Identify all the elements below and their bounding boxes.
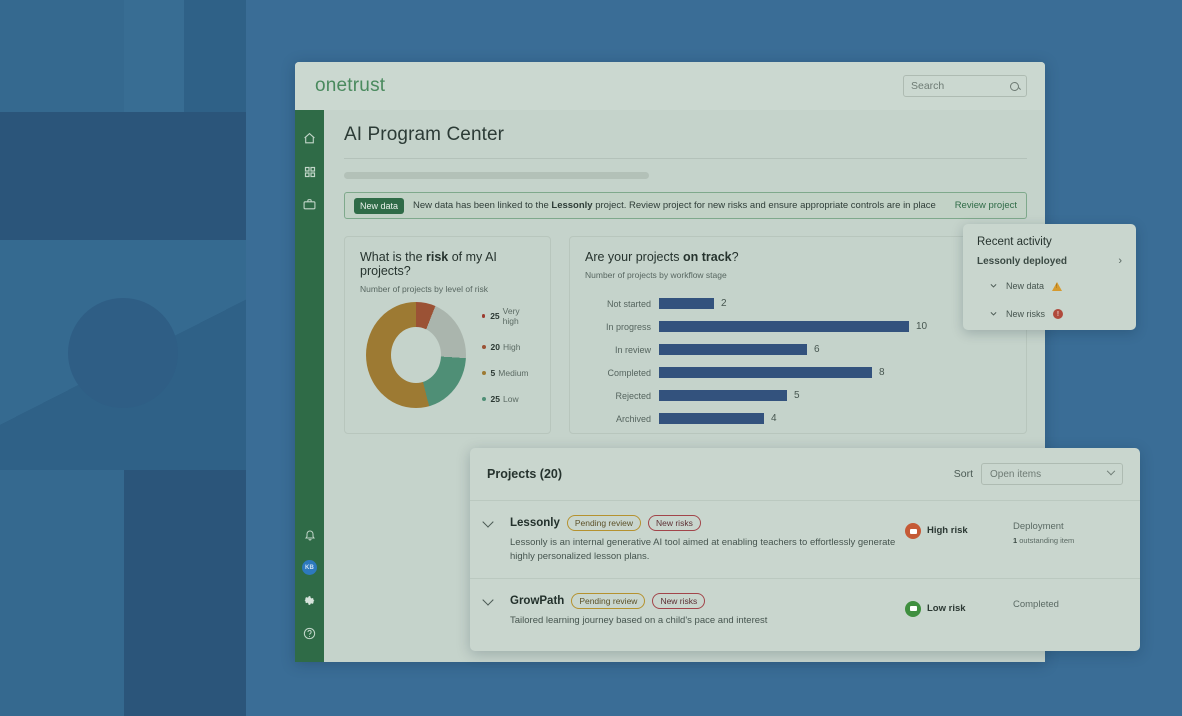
sort-value: Open items <box>990 469 1041 480</box>
project-badge: Pending review <box>567 515 641 531</box>
bar-row: Rejected5 <box>585 384 1011 407</box>
project-badge: New risks <box>648 515 701 531</box>
risk-chart-title: What is the risk of my AI projects? <box>360 250 535 278</box>
track-title-bold: on track <box>683 250 732 264</box>
sidebar-item-apps[interactable] <box>295 155 324 188</box>
search-icon <box>1010 82 1019 91</box>
track-chart-title: Are your projects on track? <box>585 250 1011 264</box>
chevron-down-icon[interactable] <box>989 305 998 323</box>
warning-triangle-icon <box>1052 282 1062 291</box>
search-placeholder: Search <box>911 80 944 92</box>
bar-value: 4 <box>771 413 777 424</box>
bar-row: Archived4 <box>585 407 1011 430</box>
onetrust-logo: onetrust <box>315 75 385 97</box>
project-body: GrowPathPending reviewNew risksTailored … <box>510 593 905 628</box>
legend-item: 25Very high <box>482 306 535 326</box>
project-risk: Low risk <box>905 593 1013 628</box>
risk-flag-icon <box>905 601 921 617</box>
project-row[interactable]: GrowPathPending reviewNew risksTailored … <box>470 578 1140 642</box>
legend-item: 25Low <box>482 394 535 404</box>
sidebar-item-notifications[interactable] <box>295 518 324 551</box>
project-risk: High risk <box>905 515 1013 564</box>
legend-label: High <box>503 342 520 352</box>
chevron-down-icon[interactable] <box>989 277 998 295</box>
risk-title-bold: risk <box>426 250 448 264</box>
track-chart-card: Are your projects on track? Number of pr… <box>569 236 1027 434</box>
bar-row: Not started2 <box>585 292 1011 315</box>
legend-item: 5Medium <box>482 368 535 378</box>
projects-header: Projects (20) Sort Open items <box>470 448 1140 500</box>
bar-label: Not started <box>585 299 659 309</box>
legend-value: 25 <box>491 394 500 404</box>
risk-label: High risk <box>927 523 968 536</box>
legend-dot <box>482 314 486 318</box>
sidebar-item-home[interactable] <box>295 122 324 155</box>
banner-text-project: Lessonly <box>551 200 592 211</box>
new-data-badge: New data <box>354 198 404 214</box>
donut-wrap: 25Very high20High5Medium25Low <box>360 302 535 408</box>
chart-cards: What is the risk of my AI projects? Numb… <box>344 236 1027 434</box>
t3: Are your projects <box>585 250 683 264</box>
recent-activity-title: Recent activity <box>977 236 1122 248</box>
project-name-line: GrowPathPending reviewNew risks <box>510 593 905 609</box>
sort-select[interactable]: Open items <box>981 463 1123 485</box>
risk-donut-chart <box>366 302 466 408</box>
bar-label: Completed <box>585 368 659 378</box>
project-badge: Pending review <box>571 593 645 609</box>
gear-icon <box>303 594 316 607</box>
home-icon <box>303 132 316 145</box>
project-stage-name: Deployment <box>1013 521 1123 532</box>
risk-flag-icon <box>905 523 921 539</box>
review-project-link[interactable]: Review project <box>955 200 1017 211</box>
sidebar-item-settings[interactable] <box>295 584 324 617</box>
workflow-bar-chart: Not started2In progress10In review6Compl… <box>585 292 1011 430</box>
recent-activity-subject-row[interactable]: Lessonly deployed › <box>977 255 1122 267</box>
risk-chart-card: What is the risk of my AI projects? Numb… <box>344 236 551 434</box>
bar-label: Rejected <box>585 391 659 401</box>
project-row[interactable]: LessonlyPending reviewNew risksLessonly … <box>470 500 1140 578</box>
recent-activity-item-new-data[interactable]: New data <box>977 277 1122 295</box>
bar-row: In progress10 <box>585 315 1011 338</box>
expand-toggle[interactable] <box>484 593 510 628</box>
bar-label: Archived <box>585 414 659 424</box>
alert-circle-icon: ! <box>1053 309 1063 319</box>
project-name: GrowPath <box>510 595 564 607</box>
search-input[interactable]: Search <box>903 75 1027 97</box>
bar <box>659 344 807 355</box>
legend-label: Very high <box>503 306 535 326</box>
bar-value: 8 <box>879 367 885 378</box>
bar-value: 2 <box>721 298 727 309</box>
bar <box>659 413 764 424</box>
project-stage: Completed <box>1013 593 1123 628</box>
project-stage-sub: 1 outstanding item <box>1013 536 1123 545</box>
legend-dot <box>482 371 486 375</box>
avatar: KB <box>302 560 317 575</box>
sidebar-item-user[interactable]: KB <box>295 551 324 584</box>
legend-dot <box>482 345 486 349</box>
bar <box>659 367 872 378</box>
risk-legend: 25Very high20High5Medium25Low <box>482 306 535 404</box>
legend-value: 20 <box>491 342 500 352</box>
bg-shape <box>124 470 246 716</box>
bar-value: 10 <box>916 321 927 332</box>
t1: What is the <box>360 250 426 264</box>
project-name-line: LessonlyPending reviewNew risks <box>510 515 905 531</box>
bg-shape <box>0 470 124 716</box>
projects-rows: LessonlyPending reviewNew risksLessonly … <box>470 500 1140 641</box>
bar <box>659 321 909 332</box>
grid-apps-icon <box>304 166 316 178</box>
banner-text-after: project. Review project for new risks an… <box>593 200 936 211</box>
app-topbar: onetrust Search <box>295 62 1045 110</box>
legend-dot <box>482 397 486 401</box>
project-description: Lessonly is an internal generative AI to… <box>510 536 905 564</box>
project-description: Tailored learning journey based on a chi… <box>510 614 905 628</box>
bell-icon <box>304 528 316 541</box>
recent-activity-item-new-risks[interactable]: New risks ! <box>977 305 1122 323</box>
project-stage: Deployment1 outstanding item <box>1013 515 1123 564</box>
risk-chart-subtitle: Number of projects by level of risk <box>360 284 535 294</box>
briefcase-icon <box>303 198 316 211</box>
project-name: Lessonly <box>510 517 560 529</box>
left-sidebar: KB <box>295 110 324 662</box>
bar-value: 6 <box>814 344 820 355</box>
legend-value: 5 <box>491 368 496 378</box>
projects-title: Projects (20) <box>487 467 562 481</box>
page-title: AI Program Center <box>344 124 1027 146</box>
banner-text-before: New data has been linked to the <box>413 200 551 211</box>
chevron-right-icon[interactable]: › <box>1118 255 1122 267</box>
legend-label: Medium <box>498 368 528 378</box>
sidebar-item-help[interactable] <box>295 617 324 650</box>
bg-shape <box>0 112 246 242</box>
recent-item-label: New data <box>1006 281 1044 291</box>
bg-circle <box>68 298 178 408</box>
project-badge: New risks <box>652 593 705 609</box>
chevron-down-icon <box>1107 467 1115 475</box>
chevron-down-icon <box>482 516 493 527</box>
new-data-banner: New data New data has been linked to the… <box>344 192 1027 219</box>
legend-label: Low <box>503 394 519 404</box>
bar-row: In review6 <box>585 338 1011 361</box>
skeleton-bar <box>344 172 649 179</box>
t4: ? <box>732 250 739 264</box>
legend-item: 20High <box>482 342 535 352</box>
help-circle-icon <box>303 627 316 640</box>
recent-activity-panel: Recent activity Lessonly deployed › New … <box>963 224 1136 330</box>
chevron-down-icon <box>482 594 493 605</box>
expand-toggle[interactable] <box>484 515 510 564</box>
projects-panel: Projects (20) Sort Open items LessonlyPe… <box>470 448 1140 651</box>
bar-value: 5 <box>794 390 800 401</box>
risk-label: Low risk <box>927 601 966 614</box>
sort-control: Sort Open items <box>954 463 1123 485</box>
legend-value: 25 <box>490 311 499 321</box>
project-stage-name: Completed <box>1013 599 1123 610</box>
track-chart-subtitle: Number of projects by workflow stage <box>585 270 1011 280</box>
banner-text: New data has been linked to the Lessonly… <box>413 200 946 211</box>
sort-label: Sort <box>954 468 973 480</box>
bar-label: In review <box>585 345 659 355</box>
bg-shape <box>246 0 300 716</box>
bar <box>659 390 787 401</box>
recent-activity-subject: Lessonly deployed <box>977 256 1067 267</box>
project-body: LessonlyPending reviewNew risksLessonly … <box>510 515 905 564</box>
bar <box>659 298 714 309</box>
bar-label: In progress <box>585 322 659 332</box>
sidebar-item-projects[interactable] <box>295 188 324 221</box>
recent-item-label: New risks <box>1006 309 1045 319</box>
title-divider <box>344 158 1027 159</box>
bar-row: Completed8 <box>585 361 1011 384</box>
